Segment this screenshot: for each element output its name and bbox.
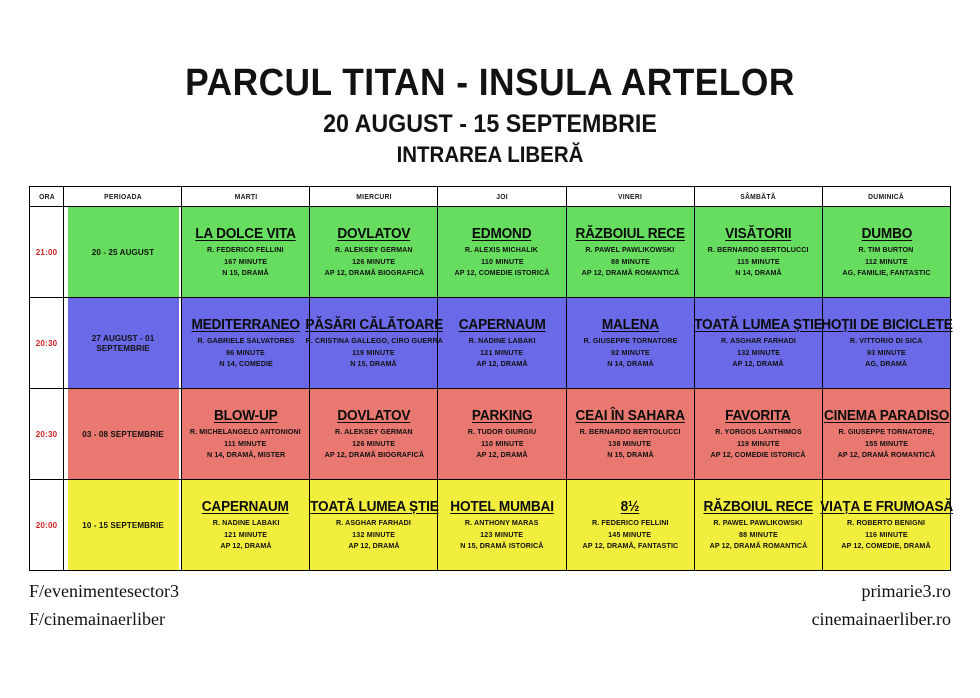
film-cell[interactable]: CAPERNAUMR. NADINE LABAKI121 MINUTEAP 12… — [182, 480, 310, 571]
film-genre: AP 12, COMEDIE ISTORICĂ — [711, 451, 806, 460]
film-director: R. GIUSEPPE TORNATORE — [583, 337, 677, 346]
film-entry: RĂZBOIUL RECER. PAWEL PAWLIKOWSKI88 MINU… — [695, 499, 822, 551]
film-genre: AP 12, COMEDIE, DRAMĂ — [842, 542, 931, 551]
film-director: R. GIUSEPPE TORNATORE, — [838, 428, 934, 437]
film-title: PARKING — [472, 408, 533, 425]
film-director: R. PAWEL PAWLIKOWSKI — [714, 519, 803, 528]
film-genre: AP 12, DRAMĂ — [476, 451, 527, 460]
film-cell[interactable]: PARKINGR. TUDOR GIURGIU110 MINUTEAP 12, … — [438, 389, 566, 480]
date-range: 20 AUGUST - 15 SEPTEMBRIE — [34, 109, 945, 139]
table-row: 20:3003 - 08 SEPTEMBRIEBLOW-UPR. MICHELA… — [30, 389, 951, 480]
film-duration: 88 MINUTE — [611, 258, 650, 267]
film-title: TOATĂ LUMEA ȘTIE — [310, 499, 439, 516]
film-cell[interactable]: CAPERNAUMR. NADINE LABAKI121 MINUTEAP 12… — [438, 298, 566, 389]
film-cell[interactable]: MEDITERRANEOR. GABRIELE SALVATORES96 MIN… — [182, 298, 310, 389]
film-title: PĂSĂRI CĂLĂTOARE — [305, 317, 443, 334]
film-entry: CAPERNAUMR. NADINE LABAKI121 MINUTEAP 12… — [182, 499, 309, 551]
film-director: R. TIM BURTON — [859, 246, 914, 255]
film-cell[interactable]: MALENAR. GIUSEPPE TORNATORE92 MINUTEN 14… — [566, 298, 694, 389]
film-duration: 111 MINUTE — [225, 440, 267, 449]
film-genre: AP 12, DRAMĂ — [476, 360, 527, 369]
film-director: R. TUDOR GIURGIU — [468, 428, 536, 437]
film-cell[interactable]: RĂZBOIUL RECER. PAWEL PAWLIKOWSKI88 MINU… — [566, 207, 694, 298]
film-duration: 93 MINUTE — [867, 349, 906, 358]
film-title: HOTEL MUMBAI — [450, 499, 554, 516]
film-entry: MEDITERRANEOR. GABRIELE SALVATORES96 MIN… — [182, 317, 309, 369]
film-title: VIAȚA E FRUMOASĂ — [820, 499, 953, 516]
film-director: R. YORGOS LANTHIMOS — [715, 428, 801, 437]
film-duration: 155 MINUTE — [865, 440, 908, 449]
film-cell[interactable]: TOATĂ LUMEA ȘTIER. ASGHAR FARHADI132 MIN… — [310, 480, 438, 571]
schedule-table: ORA PERIOADA MARȚI MIERCURI JOI VINERI S… — [29, 186, 951, 571]
film-duration: 123 MINUTE — [480, 531, 523, 540]
film-entry: DOVLATOVR. ALEKSEY GERMAN126 MINUTEAP 12… — [310, 226, 437, 278]
film-director: R. ASGHAR FARHADI — [721, 337, 796, 346]
poster-footer: F/evenimentesector3 F/cinemainaerliber p… — [29, 578, 951, 634]
film-duration: 112 MINUTE — [865, 258, 908, 267]
film-title: FAVORITA — [726, 408, 791, 425]
film-duration: 132 MINUTE — [352, 531, 395, 540]
film-duration: 110 MINUTE — [481, 258, 524, 267]
table-head: ORA PERIOADA MARȚI MIERCURI JOI VINERI S… — [30, 187, 951, 207]
film-genre: AP 12, COMEDIE ISTORICĂ — [454, 269, 549, 278]
film-duration: 167 MINUTE — [224, 258, 267, 267]
film-entry: 8½R. FEDERICO FELLINI145 MINUTEAP 12, DR… — [567, 499, 694, 551]
film-genre: N 15, DRAMĂ — [222, 269, 269, 278]
table-row: 21:0020 - 25 AUGUSTLA DOLCE VITAR. FEDER… — [30, 207, 951, 298]
film-genre: AG, DRAMĂ — [865, 360, 907, 369]
time-cell: 20:30 — [30, 298, 64, 389]
film-duration: 138 MINUTE — [609, 440, 652, 449]
film-cell[interactable]: HOTEL MUMBAIR. ANTHONY MARAS123 MINUTEN … — [438, 480, 566, 571]
film-director: R. NADINE LABAKI — [212, 519, 279, 528]
film-director: R. ALEKSEY GERMAN — [335, 246, 413, 255]
film-title: CEAI ÎN SAHARA — [575, 408, 684, 425]
film-entry: BLOW-UPR. MICHELANGELO ANTONIONI111 MINU… — [182, 408, 309, 460]
film-entry: MALENAR. GIUSEPPE TORNATORE92 MINUTEN 14… — [567, 317, 694, 369]
admission-note: INTRAREA LIBERĂ — [34, 142, 945, 168]
film-entry: LA DOLCE VITAR. FEDERICO FELLINI167 MINU… — [182, 226, 309, 278]
footer-social-line-2[interactable]: F/cinemainaerliber — [29, 606, 179, 634]
film-director: R. BERNARDO BERTOLUCCI — [580, 428, 681, 437]
film-genre: AP 12, DRAMĂ ROMANTICĂ — [581, 269, 679, 278]
film-title: RĂZBOIUL RECE — [704, 499, 813, 516]
film-duration: 96 MINUTE — [226, 349, 265, 358]
film-title: MEDITERRANEO — [192, 317, 300, 334]
film-title: TOATĂ LUMEA ȘTIE — [694, 317, 823, 334]
film-title: BLOW-UP — [214, 408, 278, 425]
schedule-container: ORA PERIOADA MARȚI MIERCURI JOI VINERI S… — [29, 186, 951, 571]
film-genre: AP 12, DRAMĂ — [348, 542, 399, 551]
film-cell[interactable]: EDMONDR. ALEXIS MICHALIK110 MINUTEAP 12,… — [438, 207, 566, 298]
film-duration: 121 MINUTE — [480, 349, 523, 358]
time-cell: 20:00 — [30, 480, 64, 571]
film-title: CINEMA PARADISO — [824, 408, 949, 425]
time-cell: 20:30 — [30, 389, 64, 480]
film-duration: 110 MINUTE — [481, 440, 524, 449]
film-entry: PĂSĂRI CĂLĂTOARER. CRISTINA GALLEGO, CIR… — [310, 317, 437, 369]
film-director: R. FEDERICO FELLINI — [592, 519, 669, 528]
column-header-ora: ORA — [31, 187, 62, 207]
column-header-marti: MARȚI — [188, 187, 303, 207]
poster-root: PARCUL TITAN - INSULA ARTELOR 20 AUGUST … — [0, 0, 980, 698]
film-duration: 132 MINUTE — [737, 349, 780, 358]
film-director: R. ALEXIS MICHALIK — [465, 246, 538, 255]
film-entry: TOATĂ LUMEA ȘTIER. ASGHAR FARHADI132 MIN… — [695, 317, 822, 369]
film-cell[interactable]: RĂZBOIUL RECER. PAWEL PAWLIKOWSKI88 MINU… — [694, 480, 822, 571]
film-cell[interactable]: LA DOLCE VITAR. FEDERICO FELLINI167 MINU… — [182, 207, 310, 298]
film-entry: CINEMA PARADISOR. GIUSEPPE TORNATORE,155… — [823, 408, 950, 460]
column-header-perioada: PERIOADA — [69, 187, 175, 207]
film-genre: AG, FAMILIE, FANTASTIC — [842, 269, 930, 278]
film-genre: N 14, DRAMĂ — [735, 269, 782, 278]
film-director: R. ASGHAR FARHADI — [336, 519, 411, 528]
film-duration: 121 MINUTE — [224, 531, 267, 540]
film-title: CAPERNAUM — [459, 317, 546, 334]
film-director: R. ROBERTO BENIGNI — [847, 519, 925, 528]
film-title: DUMBO — [861, 226, 912, 243]
film-entry: RĂZBOIUL RECER. PAWEL PAWLIKOWSKI88 MINU… — [567, 226, 694, 278]
film-director: R. BERNARDO BERTOLUCCI — [708, 246, 809, 255]
film-cell[interactable]: PĂSĂRI CĂLĂTOARER. CRISTINA GALLEGO, CIR… — [310, 298, 438, 389]
film-genre: N 14, DRAMĂ, MISTER — [207, 451, 285, 460]
footer-social-line-1[interactable]: F/evenimentesector3 — [29, 578, 179, 606]
film-entry: DUMBOR. TIM BURTON112 MINUTEAG, FAMILIE,… — [823, 226, 950, 278]
film-title: RĂZBOIUL RECE — [575, 226, 684, 243]
column-header-joi: JOI — [444, 187, 559, 207]
film-director: R. VITTORIO DI SICA — [850, 337, 923, 346]
film-cell[interactable]: TOATĂ LUMEA ȘTIER. ASGHAR FARHADI132 MIN… — [694, 298, 822, 389]
film-duration: 119 MINUTE — [352, 349, 395, 358]
film-entry: TOATĂ LUMEA ȘTIER. ASGHAR FARHADI132 MIN… — [310, 499, 437, 551]
film-entry: CAPERNAUMR. NADINE LABAKI121 MINUTEAP 12… — [438, 317, 565, 369]
film-genre: N 15, DRAMĂ — [351, 360, 398, 369]
film-entry: VISĂTORIIR. BERNARDO BERTOLUCCI115 MINUT… — [695, 226, 822, 278]
film-duration: 126 MINUTE — [352, 440, 395, 449]
film-duration: 88 MINUTE — [739, 531, 778, 540]
film-title: VISĂTORII — [725, 226, 791, 243]
film-director: R. ALEKSEY GERMAN — [335, 428, 413, 437]
film-entry: HOȚII DE BICICLETER. VITTORIO DI SICA93 … — [823, 317, 950, 369]
table-row: 20:0010 - 15 SEPTEMBRIECAPERNAUMR. NADIN… — [30, 480, 951, 571]
film-cell[interactable]: CEAI ÎN SAHARAR. BERNARDO BERTOLUCCI138 … — [566, 389, 694, 480]
film-title: EDMOND — [472, 226, 531, 243]
film-title: DOVLATOV — [337, 226, 410, 243]
film-title: LA DOLCE VITA — [195, 226, 296, 243]
table-row: 20:3027 AUGUST - 01 SEPTEMBRIEMEDITERRAN… — [30, 298, 951, 389]
film-cell[interactable]: 8½R. FEDERICO FELLINI145 MINUTEAP 12, DR… — [566, 480, 694, 571]
film-cell[interactable]: CINEMA PARADISOR. GIUSEPPE TORNATORE,155… — [822, 389, 950, 480]
film-duration: 115 MINUTE — [737, 258, 780, 267]
film-cell[interactable]: VISĂTORIIR. BERNARDO BERTOLUCCI115 MINUT… — [694, 207, 822, 298]
film-genre: N 14, COMEDIE — [219, 360, 272, 369]
film-title: CAPERNAUM — [202, 499, 289, 516]
column-header-sambata: SÂMBĂTĂ — [701, 187, 816, 207]
film-genre: AP 12, DRAMĂ, FANTASTIC — [582, 542, 678, 551]
film-title: 8½ — [621, 499, 640, 516]
page-title: PARCUL TITAN - INSULA ARTELOR — [34, 62, 945, 105]
film-cell[interactable]: BLOW-UPR. MICHELANGELO ANTONIONI111 MINU… — [182, 389, 310, 480]
column-header-miercuri: MIERCURI — [316, 187, 431, 207]
film-director: R. CRISTINA GALLEGO, CIRO GUERRA — [305, 337, 442, 346]
film-duration: 92 MINUTE — [611, 349, 650, 358]
film-entry: HOTEL MUMBAIR. ANTHONY MARAS123 MINUTEN … — [438, 499, 565, 551]
footer-social: F/evenimentesector3 F/cinemainaerliber — [29, 578, 179, 634]
film-cell[interactable]: HOȚII DE BICICLETER. VITTORIO DI SICA93 … — [822, 298, 950, 389]
footer-website-line-1[interactable]: primarie3.ro — [812, 578, 951, 606]
film-genre: AP 12, DRAMĂ — [220, 542, 271, 551]
film-entry: CEAI ÎN SAHARAR. BERNARDO BERTOLUCCI138 … — [567, 408, 694, 460]
film-genre: N 15, DRAMĂ ISTORICĂ — [460, 542, 543, 551]
film-entry: FAVORITAR. YORGOS LANTHIMOS119 MINUTEAP … — [695, 408, 822, 460]
film-genre: AP 12, DRAMĂ ROMANTICĂ — [838, 451, 936, 460]
film-entry: DOVLATOVR. ALEKSEY GERMAN126 MINUTEAP 12… — [310, 408, 437, 460]
header-row: ORA PERIOADA MARȚI MIERCURI JOI VINERI S… — [30, 187, 951, 207]
column-header-vineri: VINERI — [572, 187, 687, 207]
period-cell: 03 - 08 SEPTEMBRIE — [66, 389, 178, 480]
film-entry: VIAȚA E FRUMOASĂR. ROBERTO BENIGNI116 MI… — [823, 499, 950, 551]
footer-website-line-2[interactable]: cinemainaerliber.ro — [812, 606, 951, 634]
film-genre: AP 12, DRAMĂ ROMANTICĂ — [709, 542, 807, 551]
film-title: MALENA — [601, 317, 658, 334]
period-cell: 20 - 25 AUGUST — [66, 207, 178, 298]
film-title: HOȚII DE BICICLETE — [821, 317, 952, 334]
film-director: R. ANTHONY MARAS — [465, 519, 539, 528]
film-title: DOVLATOV — [337, 408, 410, 425]
footer-websites: primarie3.ro cinemainaerliber.ro — [812, 578, 951, 634]
film-director: R. NADINE LABAKI — [469, 337, 536, 346]
period-cell: 27 AUGUST - 01 SEPTEMBRIE — [66, 298, 178, 389]
film-cell[interactable]: VIAȚA E FRUMOASĂR. ROBERTO BENIGNI116 MI… — [822, 480, 950, 571]
column-header-duminica: DUMINICĂ — [829, 187, 944, 207]
film-director: R. GABRIELE SALVATORES — [197, 337, 294, 346]
film-cell[interactable]: DUMBOR. TIM BURTON112 MINUTEAG, FAMILIE,… — [822, 207, 950, 298]
film-cell[interactable]: DOVLATOVR. ALEKSEY GERMAN126 MINUTEAP 12… — [310, 207, 438, 298]
poster-header: PARCUL TITAN - INSULA ARTELOR 20 AUGUST … — [0, 0, 980, 168]
film-director: R. FEDERICO FELLINI — [207, 246, 284, 255]
film-duration: 126 MINUTE — [352, 258, 395, 267]
film-cell[interactable]: DOVLATOVR. ALEKSEY GERMAN126 MINUTEAP 12… — [310, 389, 438, 480]
film-entry: EDMONDR. ALEXIS MICHALIK110 MINUTEAP 12,… — [438, 226, 565, 278]
film-cell[interactable]: FAVORITAR. YORGOS LANTHIMOS119 MINUTEAP … — [694, 389, 822, 480]
film-genre: N 14, DRAMĂ — [607, 360, 654, 369]
film-entry: PARKINGR. TUDOR GIURGIU110 MINUTEAP 12, … — [438, 408, 565, 460]
period-cell: 10 - 15 SEPTEMBRIE — [66, 480, 178, 571]
film-genre: AP 12, DRAMĂ — [733, 360, 784, 369]
film-genre: AP 12, DRAMĂ BIOGRAFICĂ — [324, 269, 423, 278]
film-genre: N 15, DRAMĂ — [607, 451, 654, 460]
film-duration: 116 MINUTE — [865, 531, 908, 540]
film-director: R. PAWEL PAWLIKOWSKI — [586, 246, 675, 255]
film-duration: 145 MINUTE — [609, 531, 652, 540]
table-body: 21:0020 - 25 AUGUSTLA DOLCE VITAR. FEDER… — [30, 207, 951, 571]
film-director: R. MICHELANGELO ANTONIONI — [190, 428, 301, 437]
film-genre: AP 12, DRAMĂ BIOGRAFICĂ — [324, 451, 423, 460]
time-cell: 21:00 — [30, 207, 64, 298]
film-duration: 119 MINUTE — [737, 440, 780, 449]
